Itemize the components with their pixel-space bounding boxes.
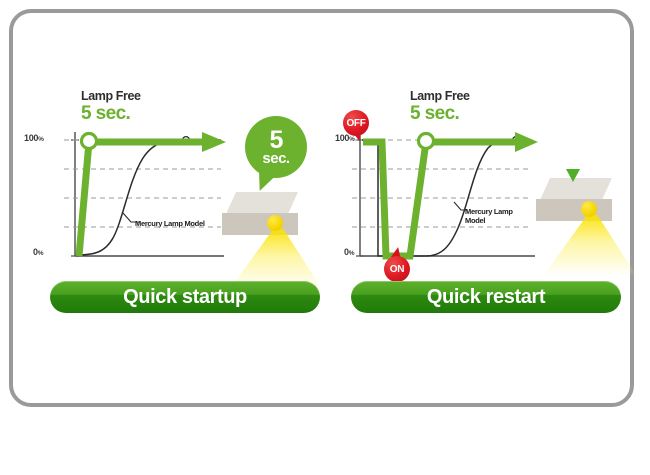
bubble-number: 5 xyxy=(270,129,283,151)
on-badge-label: ON xyxy=(390,264,404,275)
projector-body-icon xyxy=(536,199,612,221)
quick-startup-button[interactable]: Quick startup xyxy=(50,281,320,313)
projector-lens-icon xyxy=(267,215,283,231)
quick-restart-button[interactable]: Quick restart xyxy=(351,281,621,313)
lamp-free-line xyxy=(363,142,520,256)
off-badge: OFF xyxy=(343,110,369,136)
lamp-free-arrowhead xyxy=(202,132,226,152)
series-label-mercury-left: Mercury Lamp Model xyxy=(135,219,205,228)
projector-device-left xyxy=(222,192,332,292)
speech-bubble-5sec: 5 sec. xyxy=(245,116,307,178)
headline-top-text: Lamp Free xyxy=(81,90,141,103)
lamp-free-marker xyxy=(82,134,97,149)
mercury-lamp-curve xyxy=(77,140,221,255)
projector-device-right xyxy=(536,178,646,278)
bubble-unit: sec. xyxy=(262,151,289,166)
projector-beam-icon xyxy=(230,229,322,289)
on-badge: ON xyxy=(384,256,410,282)
headline-top-text: Lamp Free xyxy=(410,90,470,103)
quick-restart-button-label: Quick restart xyxy=(427,286,545,309)
series-label-leader-line-right xyxy=(452,201,470,215)
quick-startup-button-label: Quick startup xyxy=(123,286,247,309)
lamp-free-marker xyxy=(419,134,434,149)
panel-quick-restart: Lamp Free 5 sec. 100% 0% xyxy=(330,0,650,398)
lamp-free-arrowhead xyxy=(515,132,538,152)
series-label-mercury-right: Mercury Lamp Model xyxy=(465,207,513,225)
off-badge-label: OFF xyxy=(346,118,365,129)
projector-top-icon xyxy=(226,192,298,214)
green-down-arrow-icon xyxy=(566,169,580,182)
projector-body-icon xyxy=(222,213,298,235)
projector-lens-icon xyxy=(581,201,597,217)
projector-beam-icon xyxy=(544,215,636,275)
panel-quick-startup: Lamp Free 5 sec. 100% 0% xyxy=(9,0,339,398)
infographic-root: Lamp Free 5 sec. 100% 0% xyxy=(0,0,650,475)
series-label-leader-line-left xyxy=(121,212,141,226)
